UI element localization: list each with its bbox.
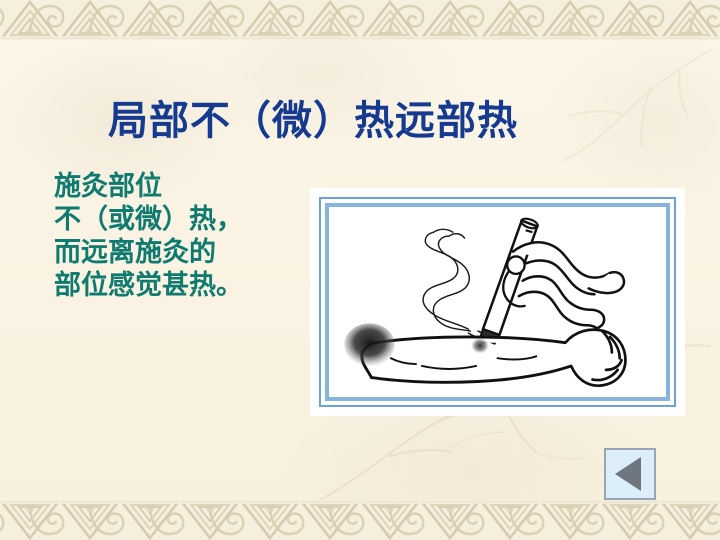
body-line-1: 施灸部位 — [54, 170, 306, 203]
body-line-3: 而远离施灸的 — [54, 236, 306, 269]
decorative-border-bottom — [0, 500, 720, 540]
body-line-2: 不（或微）热， — [54, 203, 306, 236]
moxibustion-illustration — [329, 207, 666, 397]
slide-canvas: 局部不（微）热远部热 施灸部位 不（或微）热， 而远离施灸的 部位感觉甚热。 — [0, 0, 720, 540]
illustration-frame-outer — [319, 197, 676, 407]
decorative-border-top — [0, 0, 720, 40]
illustration-frame-inner — [325, 203, 670, 401]
body-text-block: 施灸部位 不（或微）热， 而远离施灸的 部位感觉甚热。 — [54, 170, 306, 302]
body-line-4: 部位感觉甚热。 — [54, 269, 306, 302]
triangle-left-icon — [615, 457, 641, 491]
page-title: 局部不（微）热远部热 — [108, 98, 638, 145]
illustration-panel — [310, 188, 685, 416]
previous-slide-button[interactable] — [604, 448, 656, 500]
